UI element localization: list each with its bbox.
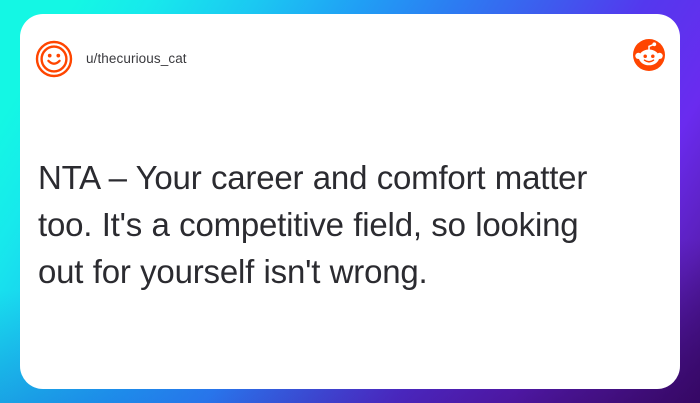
post-line-1: NTA – Your career and comfort matter [38, 154, 662, 201]
reddit-logo[interactable] [632, 38, 666, 72]
screenshot-canvas: u/thecurious_cat [0, 0, 700, 403]
post-line-3: out for yourself isn't wrong. [38, 248, 662, 295]
post-body-text: NTA – Your career and comfort matter too… [38, 154, 662, 295]
post-line-2: too. It's a competitive field, so lookin… [38, 201, 662, 248]
username-label: u/thecurious_cat [86, 51, 187, 66]
reddit-comment-card: u/thecurious_cat [20, 14, 680, 389]
avatar[interactable] [35, 40, 73, 78]
card-header: u/thecurious_cat [20, 14, 680, 110]
reddit-snoo-icon [632, 38, 666, 72]
smiley-face-icon [35, 40, 73, 78]
